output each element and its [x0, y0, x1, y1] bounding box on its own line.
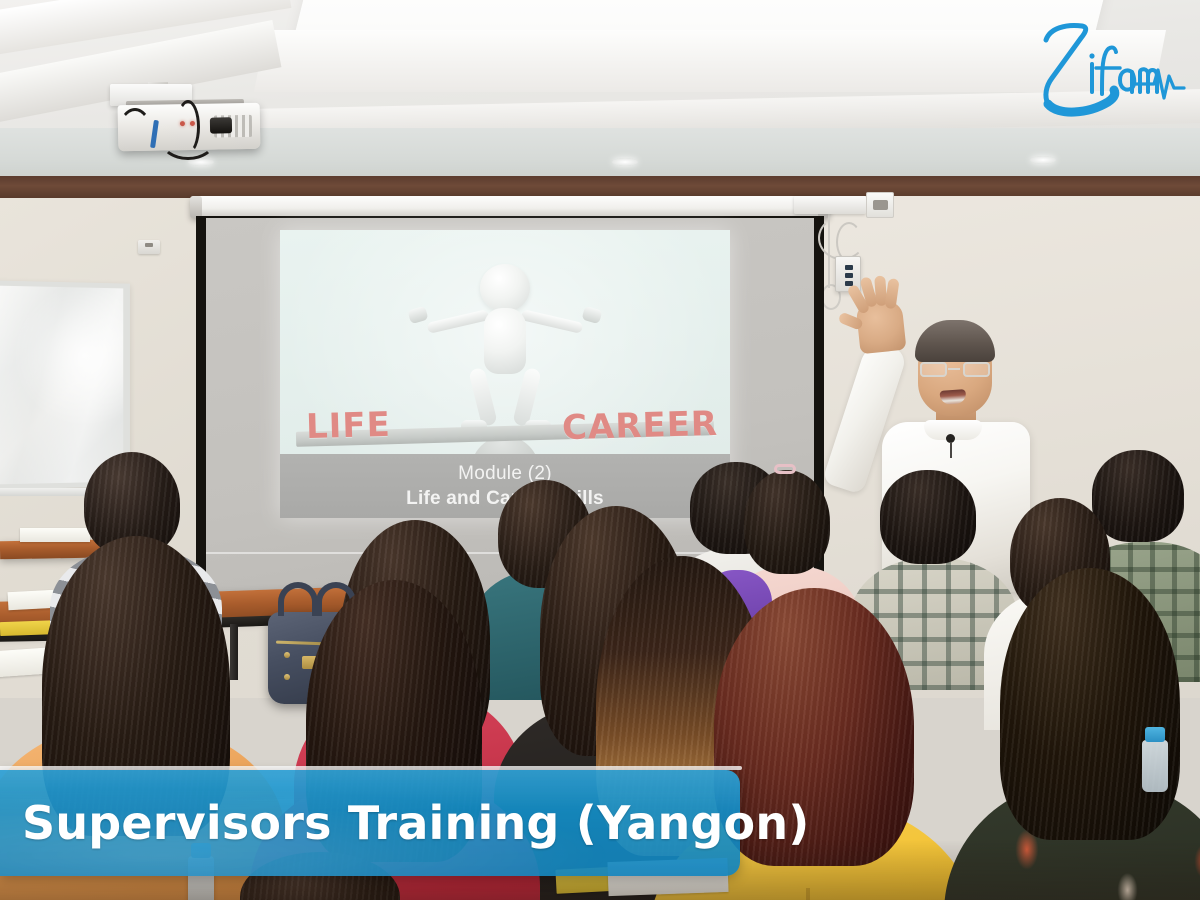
- caption-banner: Supervisors Training (Yangon): [0, 770, 740, 876]
- attendee-hair: [1000, 568, 1180, 840]
- presenter-glasses-icon: [920, 362, 990, 377]
- glasses-lens-left: [920, 362, 947, 377]
- attendee-hair: [880, 470, 976, 564]
- caption-title: Supervisors Training (Yangon): [0, 796, 810, 850]
- figure-head: [480, 264, 530, 312]
- control-button-2[interactable]: [845, 273, 853, 278]
- control-button-1[interactable]: [845, 265, 853, 270]
- figure-hand-left: [407, 306, 428, 324]
- handbag-handle: [278, 582, 318, 616]
- presentation-slide: LIFE CAREER Module (2) Life and Career S…: [280, 230, 730, 518]
- figure-arm-left: [427, 309, 490, 334]
- power-outlet: [866, 192, 894, 218]
- figure-arm-right: [521, 309, 584, 334]
- figure-leg-left: [468, 367, 498, 427]
- presenter-hair: [915, 320, 995, 362]
- zifam-logo[interactable]: [1036, 18, 1186, 122]
- whiteboard-glare: [0, 285, 123, 484]
- attendee-hair: [744, 470, 830, 574]
- glasses-lens-right: [963, 362, 990, 377]
- figure-torso: [484, 308, 526, 374]
- smoke-detector-icon: [138, 240, 160, 254]
- heartbeat-pulse-icon: [1136, 70, 1184, 98]
- slide-word-career: CAREER: [561, 404, 718, 448]
- figure-hand-right: [581, 306, 602, 324]
- hair-tie-icon: [774, 464, 796, 474]
- water-bottle: [1142, 740, 1168, 792]
- handbag-stud: [284, 674, 290, 680]
- ceiling-recess-panel-secondary: [254, 30, 1166, 92]
- downlight-icon: [1030, 156, 1056, 164]
- projector-cable: [118, 108, 152, 156]
- projection-screen-housing: [190, 196, 830, 218]
- paper-sheet: [20, 528, 90, 542]
- thumb: [838, 312, 864, 331]
- training-photo: LIFE CAREER Module (2) Life and Career S…: [0, 0, 1200, 900]
- handbag-stud: [284, 652, 290, 658]
- figure-leg-right: [512, 367, 542, 427]
- screen-housing-cap-left: [190, 196, 202, 218]
- attendee-hair: [1092, 450, 1184, 542]
- projector-cable: [176, 100, 200, 154]
- air-conditioner-unit: [794, 196, 866, 214]
- desk-leg: [230, 624, 238, 680]
- presenter-hand: [856, 300, 907, 355]
- bottle-cap: [1145, 727, 1165, 742]
- glasses-bridge: [948, 368, 960, 370]
- slide-word-life: LIFE: [305, 405, 391, 447]
- microphone-wire: [950, 442, 952, 458]
- downlight-icon: [612, 158, 638, 166]
